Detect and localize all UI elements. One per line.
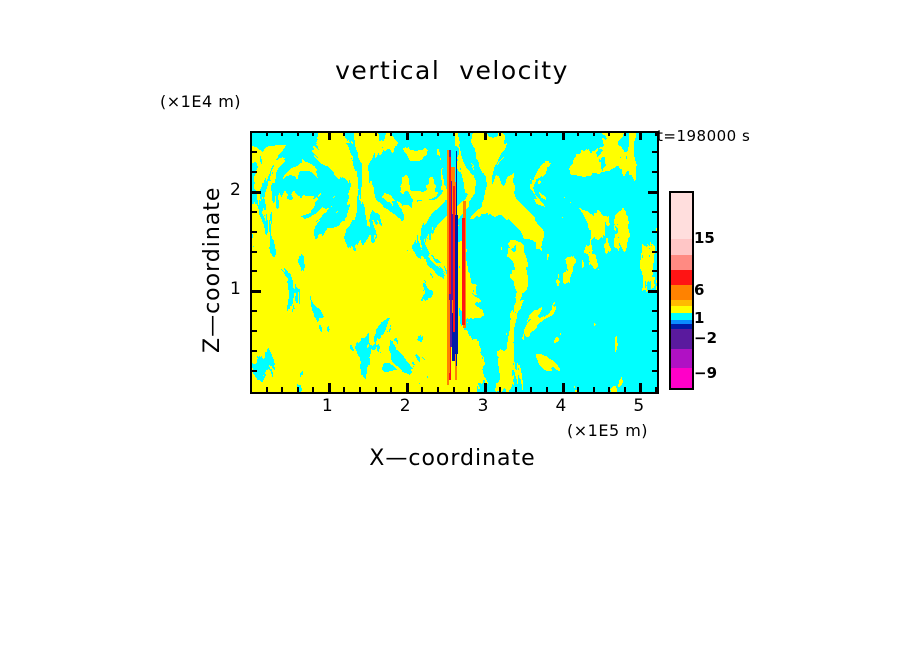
tick-mark [546,387,548,392]
tick-mark [359,131,361,136]
figure-canvas: vertical velocity (×1E4 m) t=198000 s Z—… [0,0,904,654]
tick-mark [484,131,487,140]
tick-mark [652,270,657,272]
colorbar-band [671,270,692,285]
tick-mark [437,387,439,392]
x-axis-title: X—coordinate [250,446,655,471]
tick-mark [406,383,409,392]
tick-mark [281,131,283,136]
tick-mark [624,131,626,136]
tick-mark [266,131,268,136]
tick-mark [252,310,257,312]
colorbar-band [671,239,692,255]
tick-mark [648,191,657,194]
tick-mark [515,131,517,136]
tick-mark [343,387,345,392]
colorbar-band [671,368,692,388]
colorbar-band [671,193,692,239]
tick-mark [343,131,345,136]
tick-mark [252,330,257,332]
tick-mark [652,370,657,372]
colorbar-tick-label: 6 [694,281,704,299]
tick-mark [530,131,532,136]
tick-mark [297,387,299,392]
y-axis-units-label: (×1E4 m) [160,92,241,111]
tick-mark [281,387,283,392]
x-tick-label: 3 [478,396,489,416]
tick-mark [359,387,361,392]
colorbar-band [671,285,692,301]
tick-mark [652,251,657,253]
colorbar-band [671,329,692,349]
tick-mark [252,251,257,253]
tick-mark [390,131,392,136]
tick-mark [252,131,257,133]
x-tick-label: 1 [322,396,333,416]
tick-mark [655,387,657,392]
tick-mark [252,370,257,372]
tick-mark [297,131,299,136]
tick-mark [648,290,657,293]
tick-mark [546,131,548,136]
tick-mark [328,383,331,392]
tick-mark [652,231,657,233]
tick-mark [421,387,423,392]
tick-mark [577,387,579,392]
colorbar-band [671,255,692,270]
y-tick-label: 1 [230,279,241,299]
colorbar-tick-label: −2 [694,329,717,347]
tick-mark [252,290,261,293]
tick-mark [652,131,657,133]
tick-mark [453,387,455,392]
tick-mark [437,131,439,136]
tick-mark [252,270,257,272]
y-axis-title: Z—coordinate [200,187,225,353]
contour-plot-area [250,131,659,394]
tick-mark [468,131,470,136]
tick-mark [375,387,377,392]
page-title: vertical velocity [0,56,904,85]
tick-mark [562,131,565,140]
tick-mark [499,131,501,136]
contour-field [252,133,657,392]
tick-mark [406,131,409,140]
tick-mark [652,151,657,153]
tick-mark [252,211,257,213]
tick-mark [639,383,642,392]
tick-mark [652,211,657,213]
x-axis-units-label: (×1E5 m) [567,421,648,440]
tick-mark [252,191,261,194]
x-tick-label: 2 [400,396,411,416]
x-tick-label: 4 [556,396,567,416]
tick-mark [421,131,423,136]
tick-mark [515,387,517,392]
tick-mark [266,387,268,392]
tick-mark [652,350,657,352]
colorbar-tick-label: −9 [694,364,717,382]
tick-mark [608,131,610,136]
tick-mark [639,131,642,140]
tick-mark [484,383,487,392]
colorbar-tick-label: 1 [694,309,704,327]
tick-mark [375,131,377,136]
tick-mark [593,131,595,136]
tick-mark [652,171,657,173]
tick-mark [652,310,657,312]
tick-mark [252,350,257,352]
tick-mark [593,387,595,392]
colorbar [669,191,694,390]
colorbar-band [671,349,692,369]
x-tick-label: 5 [633,396,644,416]
tick-mark [252,151,257,153]
tick-mark [252,171,257,173]
tick-mark [577,131,579,136]
timestamp-label: t=198000 s [657,127,750,145]
tick-mark [390,387,392,392]
colorbar-tick-label: 15 [694,229,715,247]
tick-mark [468,387,470,392]
tick-mark [608,387,610,392]
y-tick-label: 2 [230,180,241,200]
tick-mark [252,231,257,233]
tick-mark [312,131,314,136]
tick-mark [624,387,626,392]
tick-mark [328,131,331,140]
tick-mark [562,383,565,392]
tick-mark [530,387,532,392]
colorbar-band [671,306,692,314]
tick-mark [499,387,501,392]
tick-mark [312,387,314,392]
tick-mark [652,330,657,332]
tick-mark [453,131,455,136]
